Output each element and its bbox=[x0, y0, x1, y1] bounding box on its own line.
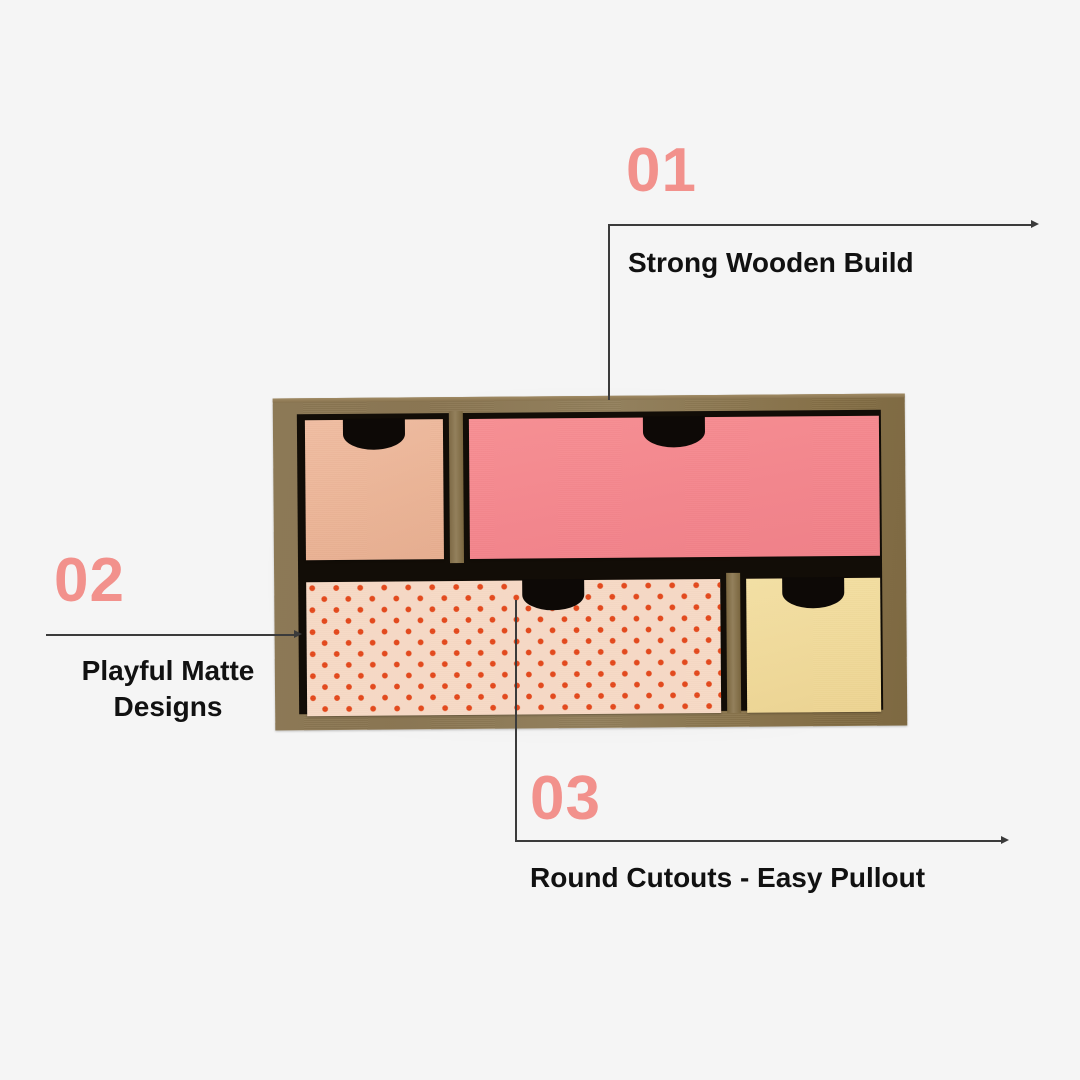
callout-leader-line-03-vertical bbox=[515, 600, 517, 841]
callout-number-02: 02 bbox=[54, 550, 125, 612]
product-image bbox=[268, 392, 910, 734]
paper-grain bbox=[306, 579, 721, 716]
callout-leader-line-01-horizontal bbox=[608, 224, 1032, 226]
callout-number-03: 03 bbox=[530, 768, 601, 830]
infographic-canvas: 01 Strong Wooden Build 02 Playful Matte … bbox=[0, 0, 1080, 1080]
callout-leader-line-03-horizontal bbox=[515, 840, 1002, 842]
callout-label-03: Round Cutouts - Easy Pullout bbox=[530, 860, 925, 896]
drawer-cutout-icon bbox=[782, 577, 844, 608]
wooden-frame bbox=[273, 394, 908, 731]
peach-drawer[interactable] bbox=[305, 419, 444, 560]
paper-grain bbox=[746, 578, 881, 713]
drawer-cutout-icon bbox=[522, 579, 584, 610]
callout-leader-line-01-vertical bbox=[608, 224, 610, 400]
drawer-cutout-icon bbox=[343, 418, 405, 449]
drawer-cutout-icon bbox=[643, 416, 705, 447]
yellow-drawer[interactable] bbox=[746, 578, 881, 713]
vertical-divider-bottom bbox=[726, 573, 741, 713]
callout-label-02: Playful Matte Designs bbox=[48, 653, 288, 725]
callout-number-01: 01 bbox=[626, 140, 697, 202]
callout-leader-line-02-horizontal bbox=[46, 634, 296, 636]
paper-grain bbox=[305, 419, 444, 560]
callout-arrow-03-icon bbox=[1001, 836, 1009, 844]
callout-label-01: Strong Wooden Build bbox=[628, 245, 914, 281]
paper-grain bbox=[469, 416, 880, 559]
callout-arrow-01-icon bbox=[1031, 220, 1039, 228]
polka-dot-drawer[interactable] bbox=[306, 579, 721, 716]
callout-arrow-02-icon bbox=[294, 630, 302, 638]
vertical-divider-top bbox=[449, 411, 464, 563]
pink-drawer[interactable] bbox=[469, 416, 880, 559]
